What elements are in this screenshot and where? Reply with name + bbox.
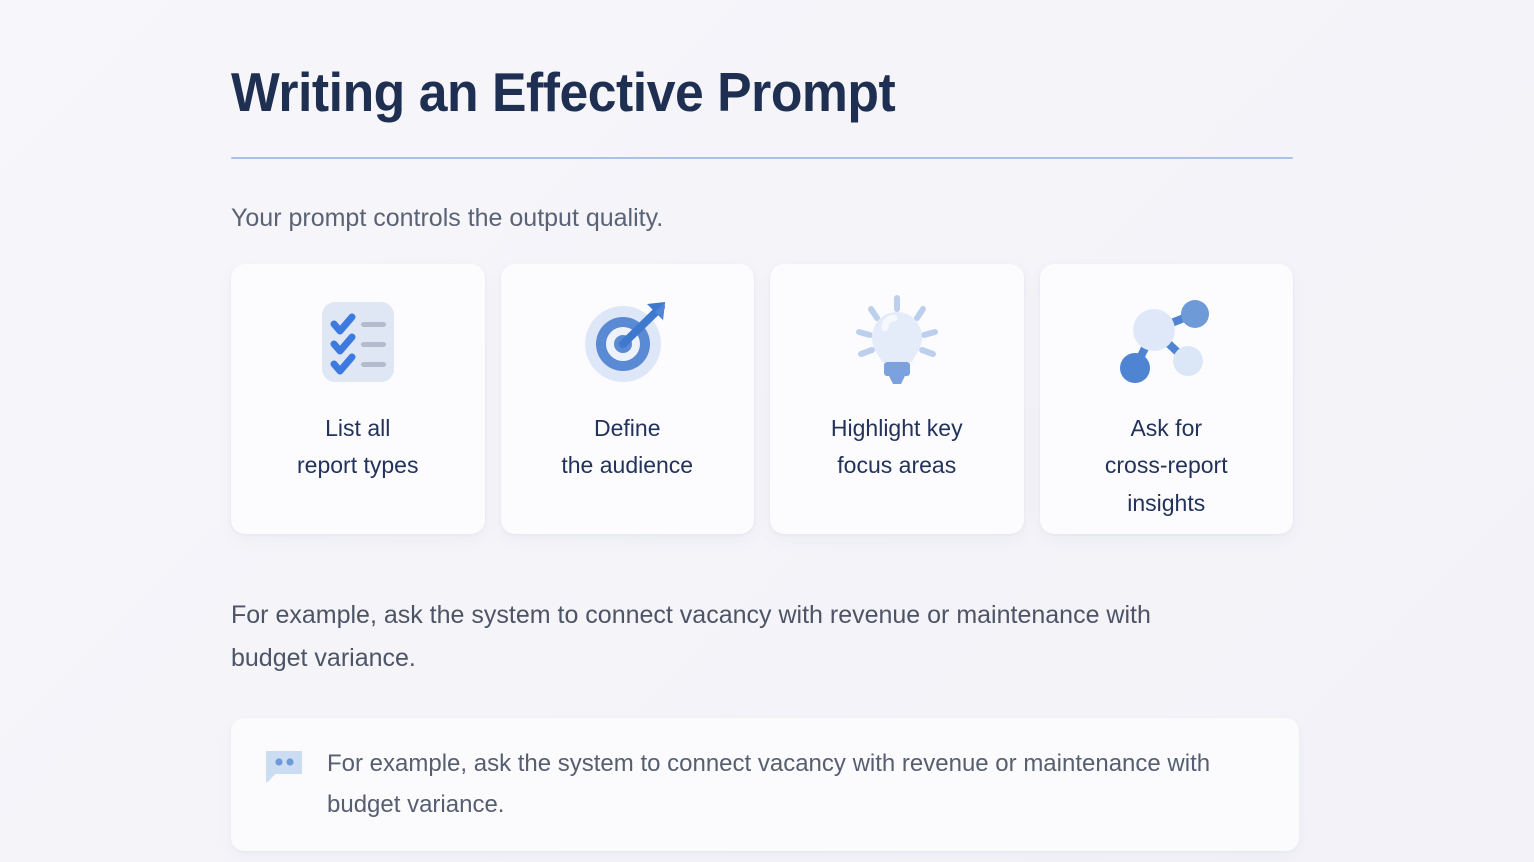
card-label: Ask for cross-report insights (1095, 410, 1238, 522)
lightbulb-icon (845, 290, 949, 394)
target-arrow-icon (575, 290, 679, 394)
content-column: Writing an Effective Prompt Your prompt … (231, 0, 1293, 851)
card-grid: List all report types Define the audien (231, 264, 1293, 534)
page-title: Writing an Effective Prompt (231, 62, 1229, 123)
card-label: Highlight key focus areas (821, 410, 973, 485)
card-label: Define the audience (551, 410, 703, 485)
example-callout: For example, ask the system to connect v… (231, 718, 1299, 851)
callout-text: For example, ask the system to connect v… (327, 743, 1269, 826)
card-highlight-key-focus-areas[interactable]: Highlight key focus areas (770, 264, 1024, 534)
checklist-icon (306, 290, 410, 394)
body-paragraph: For example, ask the system to connect v… (231, 594, 1176, 680)
speech-bubble-icon (263, 747, 305, 789)
card-label: List all report types (287, 410, 428, 485)
page-subtitle: Your prompt controls the output quality. (231, 202, 1293, 235)
card-ask-for-cross-report-insights[interactable]: Ask for cross-report insights (1040, 264, 1294, 534)
title-divider (231, 157, 1293, 159)
card-list-all-report-types[interactable]: List all report types (231, 264, 485, 534)
network-share-icon (1114, 290, 1218, 394)
card-define-the-audience[interactable]: Define the audience (501, 264, 755, 534)
slide-page: Writing an Effective Prompt Your prompt … (0, 0, 1534, 862)
